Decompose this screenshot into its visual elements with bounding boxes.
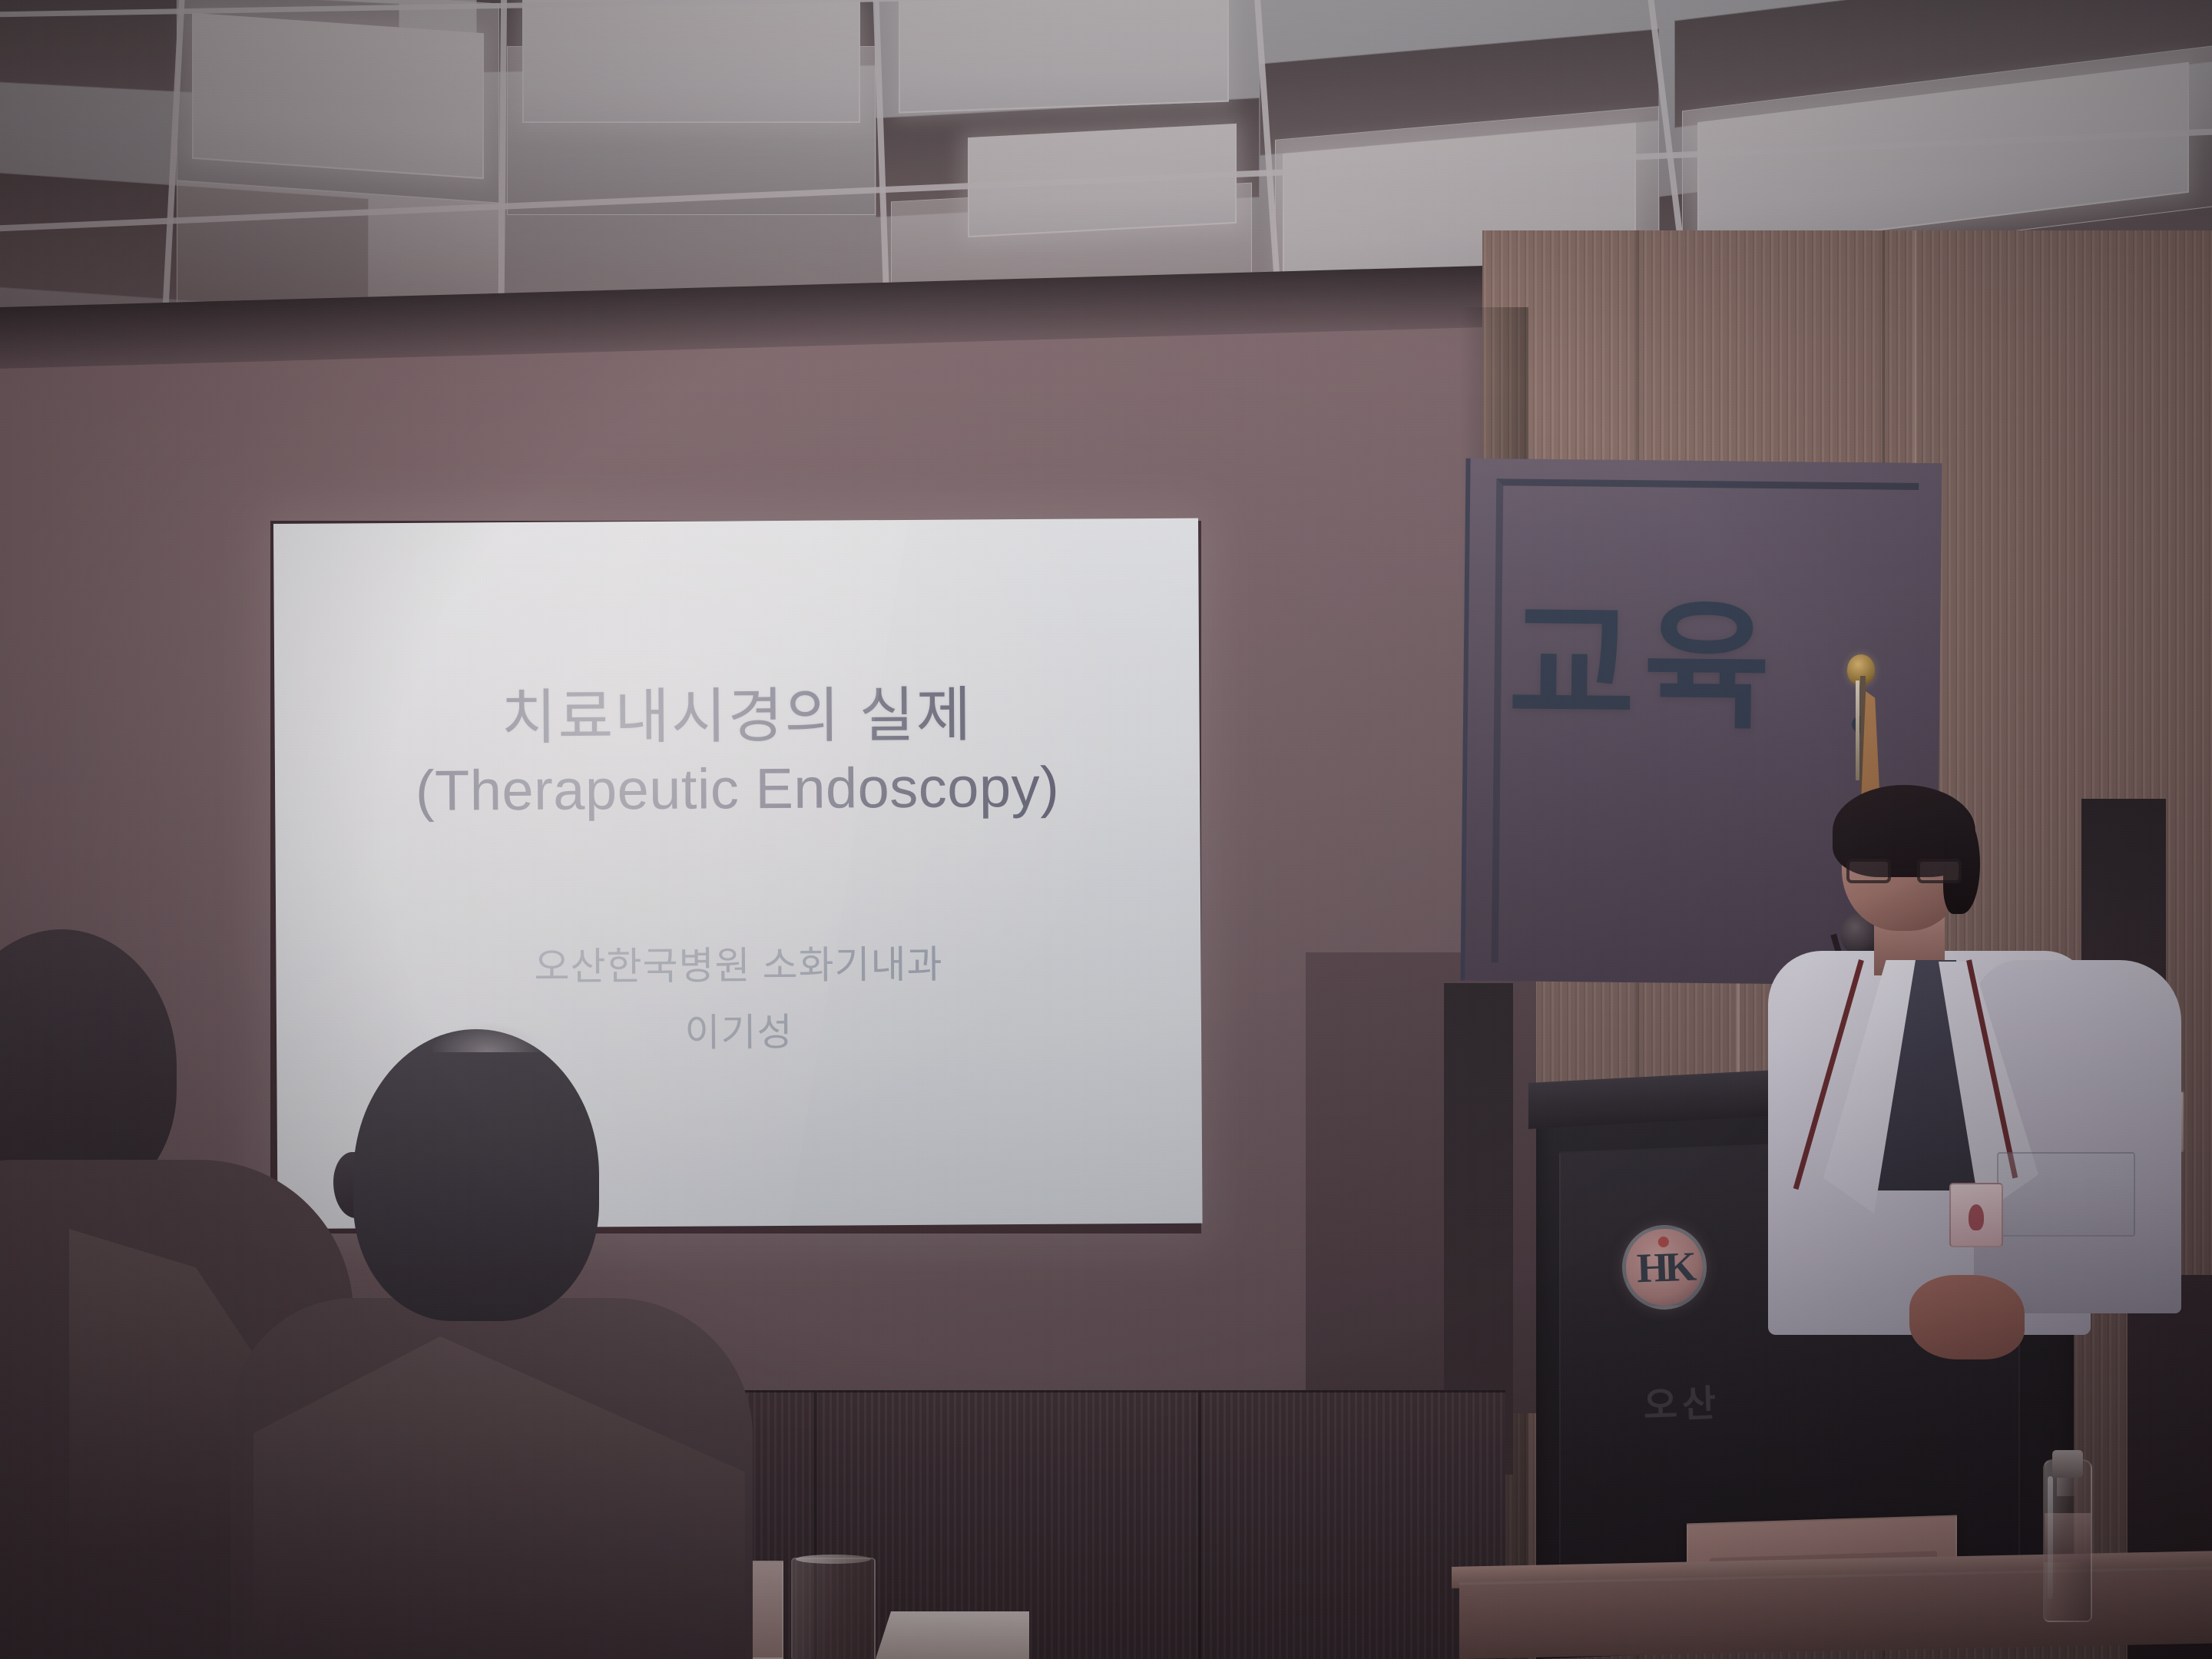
flag-cord	[1856, 680, 1859, 780]
bottle-cap	[2052, 1450, 2083, 1478]
podium-name-text: 오산	[1581, 1379, 1783, 1432]
speaker-coat-pocket	[1997, 1152, 2135, 1237]
drinking-glass	[791, 1558, 876, 1659]
audience-member-hair-wisp	[430, 1022, 545, 1052]
speaker-id-badge	[1949, 1183, 2003, 1247]
table-front	[1459, 1566, 2212, 1659]
eyeglass-lens-left	[1846, 859, 1891, 883]
photo-scene: 교육 치료내시경의 실제 (Therapeutic Endoscopy) 오산한…	[0, 0, 2212, 1659]
eyeglasses-icon	[1846, 859, 1962, 885]
slide-title-korean: 치료내시경의 실제	[501, 680, 972, 752]
foreground-paper-right	[876, 1611, 1029, 1659]
ceiling-light-panel	[899, 0, 1229, 114]
ceiling-light-panel	[192, 13, 484, 180]
ceiling-light-panel	[522, 0, 860, 123]
badge-photo	[1969, 1204, 1984, 1230]
audience-member-head	[353, 1029, 599, 1321]
water-bottle	[2043, 1430, 2092, 1622]
eyeglass-lens-right	[1917, 859, 1962, 883]
slide-affiliation: 오산한국병원 소화기내과	[534, 942, 942, 988]
bottle-highlight	[2048, 1476, 2053, 1599]
slide-subtitle: 오산한국병원 소화기내과 이기성	[534, 935, 943, 1064]
drinking-glass-rim	[796, 1555, 871, 1564]
slide-presenter-name: 이기성	[535, 1002, 943, 1065]
eyeglass-bridge	[1891, 868, 1917, 871]
slide-title-english: (Therapeutic Endoscopy)	[416, 755, 1060, 823]
speaker-hand	[1909, 1275, 2025, 1359]
logo-initials: HK	[1636, 1243, 1693, 1292]
